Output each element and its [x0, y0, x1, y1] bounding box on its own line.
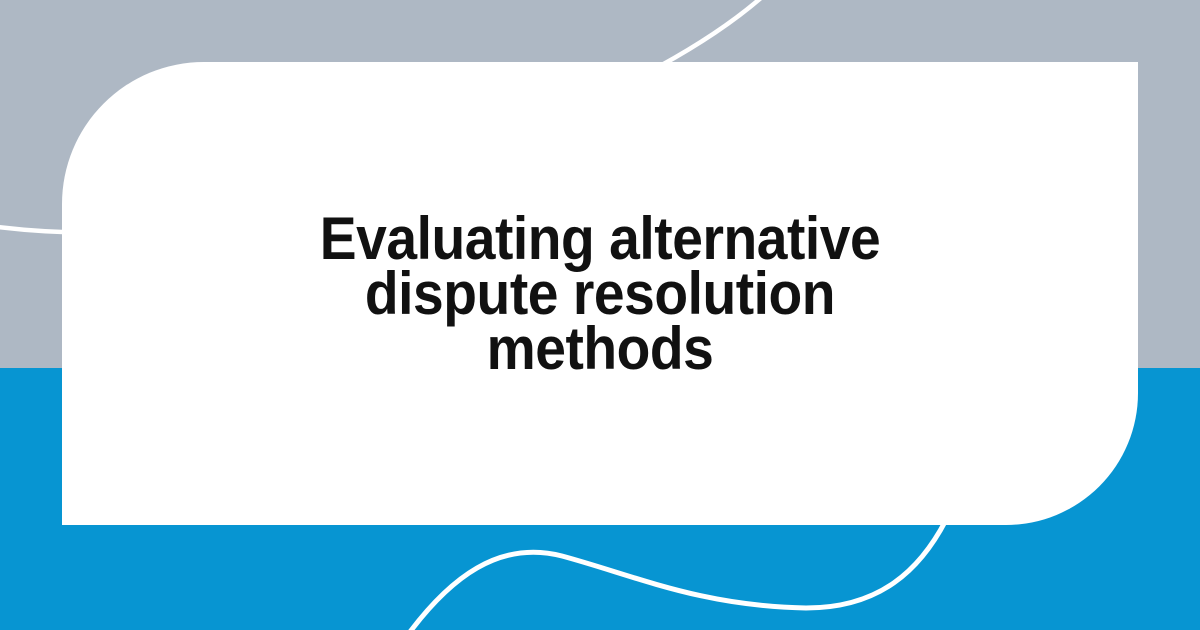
title-container: Evaluating alternative dispute resolutio… — [62, 62, 1138, 525]
page-title: Evaluating alternative dispute resolutio… — [278, 211, 922, 376]
banner-root: Evaluating alternative dispute resolutio… — [0, 0, 1200, 630]
